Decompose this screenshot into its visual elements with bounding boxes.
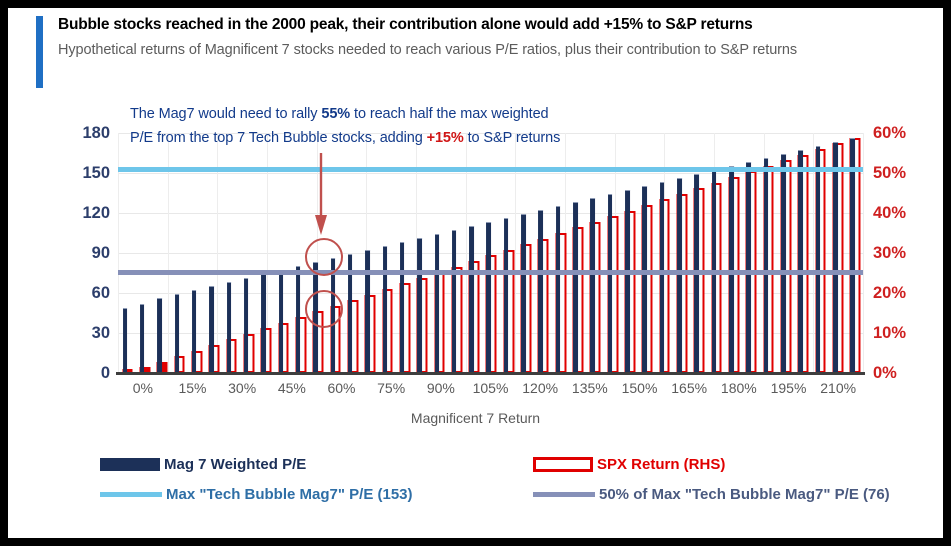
bar-mag7-pe <box>244 278 249 373</box>
y-axis-left-tick: 180 <box>64 125 110 142</box>
bar-mag7-pe <box>677 178 682 373</box>
legend-swatch-lightblue-line-icon <box>100 492 162 497</box>
chart-card: Bubble stocks reached in the 2000 peak, … <box>8 8 943 538</box>
bar-mag7-pe <box>833 142 838 373</box>
bar-mag7-pe <box>625 190 630 373</box>
bar-mag7-pe <box>192 290 197 373</box>
chart-legend: Mag 7 Weighted P/E Max "Tech Bubble Mag7… <box>8 452 943 522</box>
bar-mag7-pe <box>660 182 665 373</box>
bar-mag7-pe <box>798 150 803 373</box>
bar-mag7-pe <box>746 162 751 373</box>
y-axis-right-tick: 20% <box>873 285 929 302</box>
y-axis-right-tick: 60% <box>873 125 929 142</box>
annotation-line2-part3: to S&P returns <box>464 130 561 146</box>
legend-label-mag7-pe: Mag 7 Weighted P/E <box>164 456 306 473</box>
bar-mag7-pe <box>452 230 457 373</box>
bar-mag7-pe <box>590 198 595 373</box>
bar-mag7-pe <box>521 214 526 373</box>
bar-mag7-pe <box>227 282 232 373</box>
legend-swatch-red-outline-bar-icon <box>533 457 593 472</box>
legend-swatch-navy-bar-icon <box>100 458 160 471</box>
bar-mag7-pe <box>400 242 405 373</box>
accent-bar <box>36 16 43 88</box>
bar-mag7-pe <box>140 304 145 373</box>
chart-area: 0306090120150180 0%10%20%30%40%50%60% 0%… <box>8 92 943 538</box>
bar-mag7-pe <box>209 286 214 373</box>
legend-label-half-max-pe-line: 50% of Max "Tech Bubble Mag7" P/E (76) <box>599 486 890 503</box>
annotation-line2-part1: P/E from the top 7 Tech Bubble stocks, a… <box>130 130 427 146</box>
legend-item-max-pe-line[interactable]: Max "Tech Bubble Mag7" P/E (153) <box>100 486 413 503</box>
annotation-line1-part1: The Mag7 would need to rally <box>130 106 321 122</box>
bar-mag7-pe <box>435 234 440 373</box>
bar-mag7-pe <box>850 138 855 373</box>
bar-mag7-pe <box>279 272 284 373</box>
x-axis-title: Magnificent 7 Return <box>8 410 943 426</box>
bar-mag7-pe <box>383 246 388 373</box>
bar-mag7-pe <box>573 202 578 373</box>
bar-mag7-pe <box>539 210 544 373</box>
reference-line-max-pe <box>118 167 863 172</box>
legend-item-half-max-pe-line[interactable]: 50% of Max "Tech Bubble Mag7" P/E (76) <box>533 486 890 503</box>
bar-mag7-pe <box>642 186 647 373</box>
bar-mag7-pe <box>123 308 128 373</box>
highlight-circle-pe <box>305 238 343 276</box>
annotation-arrow-icon <box>314 153 328 237</box>
bar-mag7-pe <box>816 146 821 373</box>
y-axis-right-tick: 10% <box>873 325 929 342</box>
bar-mag7-pe <box>296 266 301 373</box>
annotation-rally-value: 55% <box>321 106 350 122</box>
y-axis-left-tick: 90 <box>64 245 110 262</box>
x-axis-line <box>116 372 865 375</box>
y-axis-left-tick: 150 <box>64 165 110 182</box>
y-axis-left-tick: 120 <box>64 205 110 222</box>
bar-mag7-pe <box>487 222 492 373</box>
y-axis-left-tick: 0 <box>64 365 110 382</box>
bar-mag7-pe <box>764 158 769 373</box>
bar-mag7-pe <box>556 206 561 373</box>
x-axis-tick: 210% <box>808 380 868 396</box>
bar-mag7-pe <box>157 298 162 373</box>
bar-mag7-pe <box>608 194 613 373</box>
y-axis-right-tick: 0% <box>873 365 929 382</box>
page-title: Bubble stocks reached in the 2000 peak, … <box>58 15 928 35</box>
y-axis-left-tick: 60 <box>64 285 110 302</box>
y-axis-left-tick: 30 <box>64 325 110 342</box>
bar-mag7-pe <box>504 218 509 373</box>
legend-label-max-pe-line: Max "Tech Bubble Mag7" P/E (153) <box>166 486 413 503</box>
reference-line-half-max-pe <box>118 270 863 275</box>
y-axis-right-tick: 30% <box>873 245 929 262</box>
bar-mag7-pe <box>261 274 266 373</box>
highlight-circle-spx <box>305 290 343 328</box>
annotation-spx-contribution: +15% <box>427 130 464 146</box>
chart-annotation: The Mag7 would need to rally 55% to reac… <box>130 102 690 150</box>
legend-item-mag7-pe[interactable]: Mag 7 Weighted P/E <box>100 456 306 473</box>
plot-area <box>118 133 863 373</box>
legend-label-spx-return: SPX Return (RHS) <box>597 456 725 473</box>
annotation-line1-part3: to reach half the max weighted <box>350 106 548 122</box>
bar-mag7-pe <box>781 154 786 373</box>
bar-mag7-pe <box>175 294 180 373</box>
header: Bubble stocks reached in the 2000 peak, … <box>36 12 926 92</box>
y-axis-right-tick: 50% <box>873 165 929 182</box>
page-subtitle: Hypothetical returns of Magnificent 7 st… <box>58 40 903 61</box>
y-axis-right-tick: 40% <box>873 205 929 222</box>
bar-mag7-pe <box>469 226 474 373</box>
bar-mag7-pe <box>417 238 422 373</box>
legend-item-spx-return[interactable]: SPX Return (RHS) <box>533 456 725 473</box>
legend-swatch-grayblue-line-icon <box>533 492 595 497</box>
